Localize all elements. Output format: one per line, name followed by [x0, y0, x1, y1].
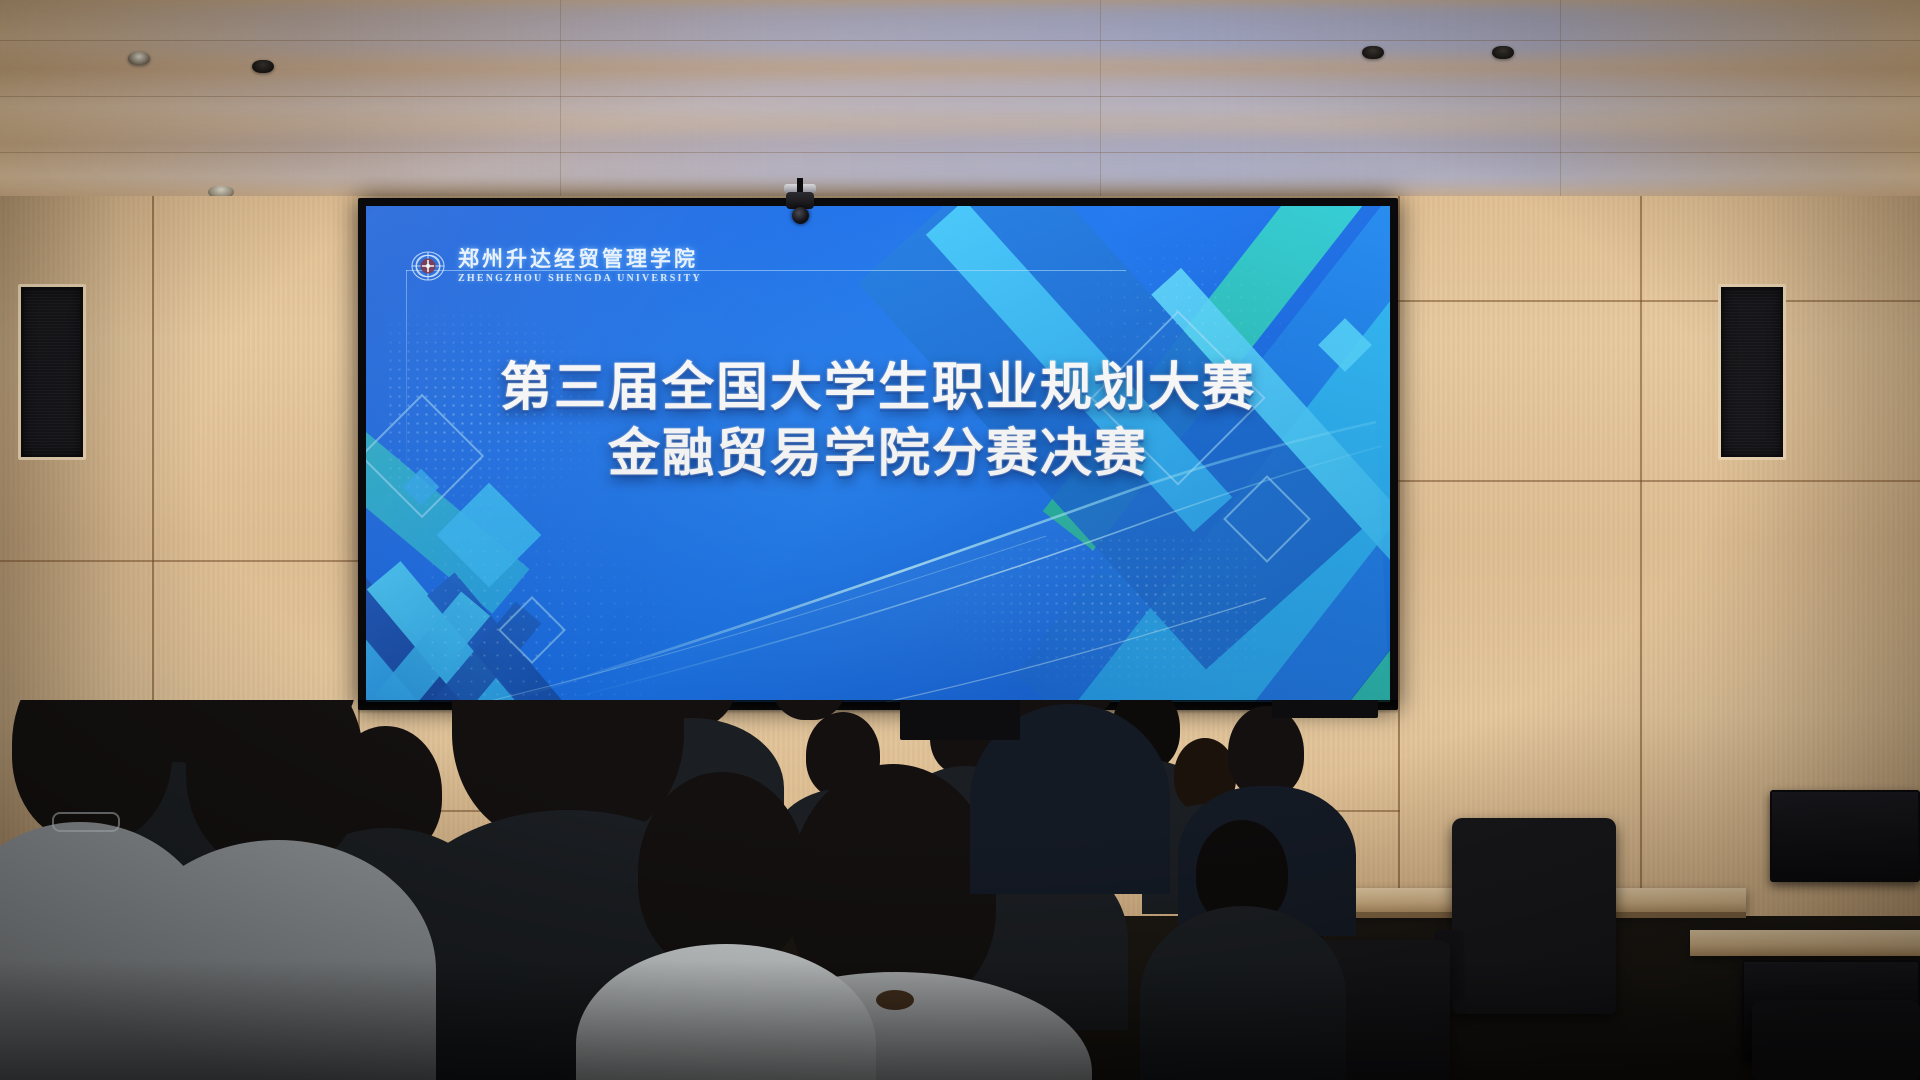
audience-head-foreground: [638, 772, 806, 972]
logo-name-en: ZHENGZHOU SHENGDA UNIVERSITY: [458, 274, 702, 284]
ceiling-spotlight: [1362, 46, 1384, 59]
deco-band: [1260, 486, 1390, 702]
ceiling-spotlight: [1492, 46, 1514, 59]
particle-field: [926, 536, 1256, 696]
particle-field: [426, 506, 706, 696]
slide-header: 郑州升达经贸管理学院 ZHENGZHOU SHENGDA UNIVERSITY: [406, 244, 1126, 296]
university-crest-icon: [406, 244, 450, 288]
ceiling-light-spill: [0, 2, 1920, 60]
ceiling-light-spill: [0, 72, 1920, 122]
ceiling: [0, 0, 1920, 205]
logo-name-cn: 郑州升达经贸管理学院: [458, 249, 702, 270]
speaker-grille: [24, 290, 80, 454]
auditorium-photo: 郑州升达经贸管理学院 ZHENGZHOU SHENGDA UNIVERSITY …: [0, 0, 1920, 1080]
ceiling-spotlight: [128, 52, 150, 65]
wall-speaker-left: [18, 284, 86, 460]
slide-title-line1: 第三届全国大学生职业规划大赛: [366, 356, 1390, 422]
ptz-camera: [782, 178, 818, 230]
slide-titles: 第三届全国大学生职业规划大赛 金融贸易学院分赛决赛: [366, 356, 1390, 487]
university-logo: 郑州升达经贸管理学院 ZHENGZHOU SHENGDA UNIVERSITY: [406, 244, 702, 288]
eyeglasses-icon: [52, 812, 120, 832]
audience-head: [1228, 706, 1304, 798]
slide-title-line2: 金融贸易学院分赛决赛: [366, 422, 1390, 488]
wall-speaker-right: [1718, 284, 1786, 460]
speaker-grille: [1724, 290, 1780, 454]
laptop: [1272, 700, 1378, 718]
main-projection-screen: 郑州升达经贸管理学院 ZHENGZHOU SHENGDA UNIVERSITY …: [366, 206, 1390, 702]
laptop: [900, 700, 1020, 740]
ceiling-light-spill: [0, 128, 1920, 190]
camera-lens-icon: [792, 207, 809, 224]
ceiling-spotlight: [252, 60, 274, 73]
